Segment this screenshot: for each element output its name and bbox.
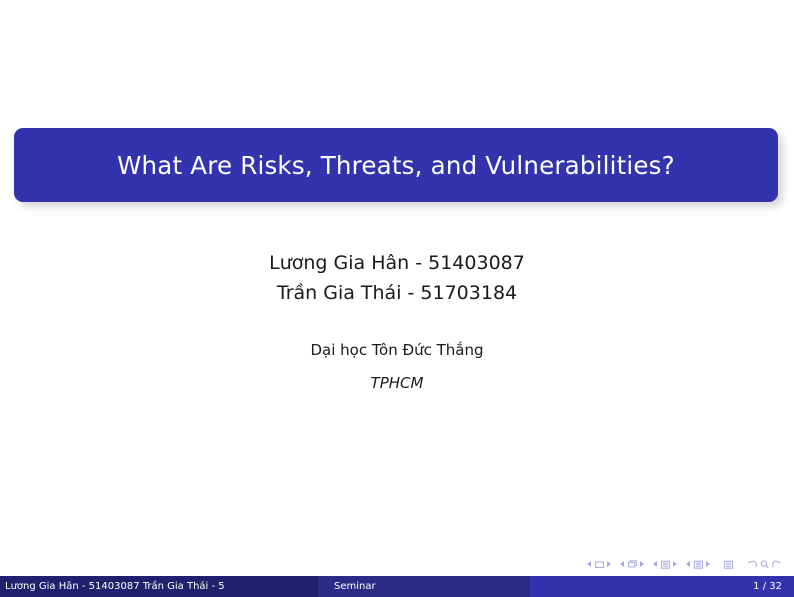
next-subsection-arrow-icon[interactable] bbox=[673, 561, 677, 567]
prev-slide-arrow-icon[interactable] bbox=[587, 561, 591, 567]
section-icon[interactable] bbox=[693, 559, 704, 570]
beamer-navigation-bar[interactable] bbox=[587, 556, 782, 572]
appendix-icon[interactable] bbox=[723, 559, 734, 570]
back-icon[interactable] bbox=[747, 559, 758, 570]
subsection-icon[interactable] bbox=[660, 559, 671, 570]
author-name-2: Trần Gia Thái - 51703184 bbox=[0, 278, 794, 308]
slide-footer: Lương Gia Hân - 51403087 Trần Gia Thái -… bbox=[0, 576, 794, 597]
prev-section-arrow-icon[interactable] bbox=[686, 561, 690, 567]
find-icon[interactable] bbox=[759, 559, 770, 570]
institute-name: Dại học Tôn Đức Thắng bbox=[0, 338, 794, 362]
forward-icon[interactable] bbox=[771, 559, 782, 570]
page-title: What Are Risks, Threats, and Vulnerabili… bbox=[117, 151, 675, 180]
footer-author-text: Lương Gia Hân - 51403087 Trần Gia Thái -… bbox=[0, 576, 318, 597]
footer-title-text: Seminar bbox=[318, 576, 530, 597]
nav-group-slide[interactable] bbox=[587, 559, 611, 570]
nav-group-history[interactable] bbox=[747, 559, 782, 570]
slide-icon[interactable] bbox=[594, 559, 605, 570]
nav-group-section[interactable] bbox=[686, 559, 710, 570]
nav-group-subsection[interactable] bbox=[653, 559, 677, 570]
next-frame-arrow-icon[interactable] bbox=[640, 561, 644, 567]
title-block: What Are Risks, Threats, and Vulnerabili… bbox=[14, 128, 778, 202]
footer-page-number: 1 / 32 bbox=[530, 576, 794, 597]
frames-icon[interactable] bbox=[627, 559, 638, 570]
next-slide-arrow-icon[interactable] bbox=[607, 561, 611, 567]
nav-group-frames[interactable] bbox=[620, 559, 644, 570]
authors-list: Lương Gia Hân - 51403087 Trần Gia Thái -… bbox=[0, 248, 794, 308]
presentation-slide: What Are Risks, Threats, and Vulnerabili… bbox=[0, 0, 794, 597]
prev-subsection-arrow-icon[interactable] bbox=[653, 561, 657, 567]
prev-frame-arrow-icon[interactable] bbox=[620, 561, 624, 567]
next-section-arrow-icon[interactable] bbox=[706, 561, 710, 567]
author-name-1: Lương Gia Hân - 51403087 bbox=[0, 248, 794, 278]
location-name: TPHCM bbox=[0, 371, 794, 395]
